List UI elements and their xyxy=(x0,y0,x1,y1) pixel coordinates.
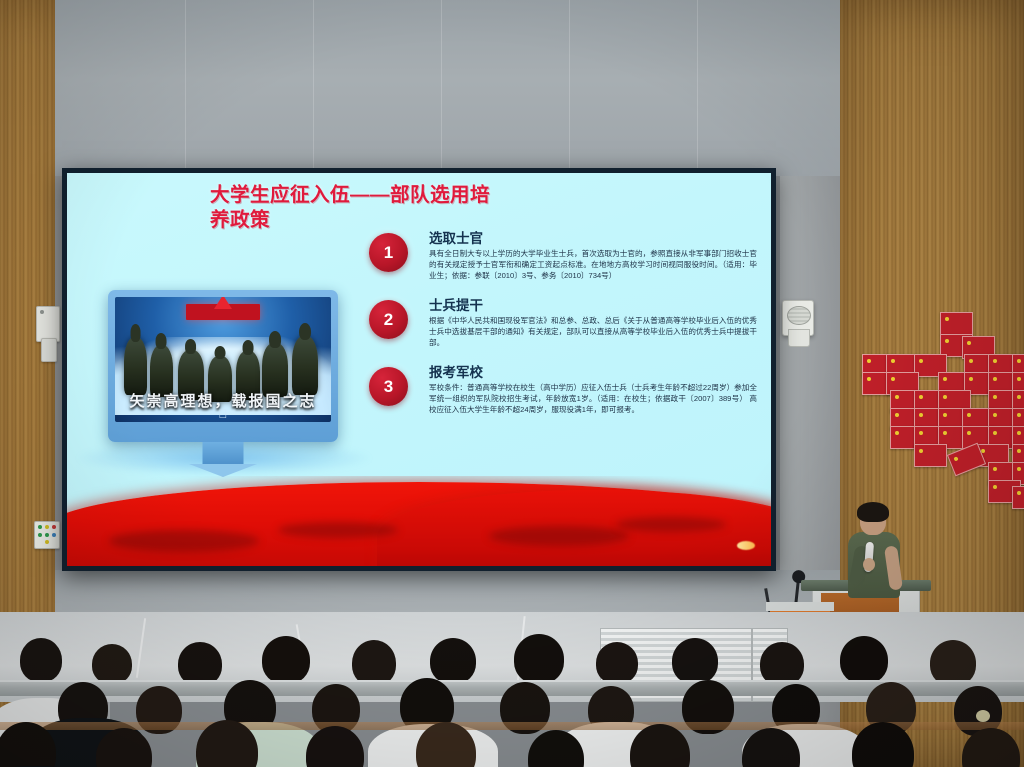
policy-point: 1 选取士官 具有全日制大专以上学历的大学毕业生士兵，首次选取为士官的，参照直接… xyxy=(369,231,757,293)
monitor-screen-image: 矢崇高理想，载报国之志 xyxy=(115,297,331,422)
red-ribbon-graphic xyxy=(67,476,771,566)
point-heading: 士兵提干 xyxy=(429,298,757,314)
upper-wall-panels xyxy=(55,0,840,176)
point-number-badge: 3 xyxy=(369,367,408,406)
left-wall-speaker xyxy=(782,300,814,336)
point-number-badge: 1 xyxy=(369,233,408,272)
slide-title-line-2: 养政策 xyxy=(210,208,630,233)
point-body: 根据《中华人民共和国现役军官法》和总参、总政、总后《关于从普通高等学校毕业后入伍… xyxy=(429,316,757,348)
policy-point: 2 士兵提干 根据《中华人民共和国现役军官法》和总参、总政、总后《关于从普通高等… xyxy=(369,298,757,360)
point-body: 具有全日制大专以上学历的大学毕业生士兵，首次选取为士官的，参照直接从非军事部门招… xyxy=(429,249,757,281)
apple-logo-icon:  xyxy=(219,408,228,420)
monitor-illustration: 矢崇高理想，载报国之志  xyxy=(108,290,338,442)
policy-point: 3 报考军校 军校条件：普通高等学校在校生（高中学历）应征入伍士兵（士兵考生年龄… xyxy=(369,365,757,427)
left-wall-control-panel[interactable] xyxy=(36,306,60,342)
point-body: 军校条件：普通高等学校在校生（高中学历）应征入伍士兵（士兵考生年龄不超过22周岁… xyxy=(429,383,757,415)
point-number-badge: 2 xyxy=(369,300,408,339)
audience-row-front xyxy=(0,700,1024,767)
presenter xyxy=(846,506,902,598)
point-heading: 报考军校 xyxy=(429,365,757,381)
slide-title: 大学生应征入伍——部队选用培 养政策 xyxy=(210,183,630,234)
monitor-stand-neck xyxy=(203,442,244,464)
ribbon-highlight xyxy=(737,541,755,550)
left-wall-sticker-panel xyxy=(34,521,60,549)
slide-title-line-1: 大学生应征入伍——部队选用培 xyxy=(210,183,630,208)
projection-screen[interactable]: 大学生应征入伍——部队选用培 养政策 xyxy=(62,168,776,571)
army-emblem-icon xyxy=(186,304,260,320)
lecture-hall-photo: 大学生应征入伍——部队选用培 养政策 xyxy=(0,0,1024,767)
left-wall-switch-panel[interactable] xyxy=(41,338,57,362)
point-heading: 选取士官 xyxy=(429,231,757,247)
presentation-slide: 大学生应征入伍——部队选用培 养政策 xyxy=(67,173,771,566)
policy-points-list: 1 选取士官 具有全日制大专以上学历的大学毕业生士兵，首次选取为士官的，参照直接… xyxy=(369,231,757,432)
